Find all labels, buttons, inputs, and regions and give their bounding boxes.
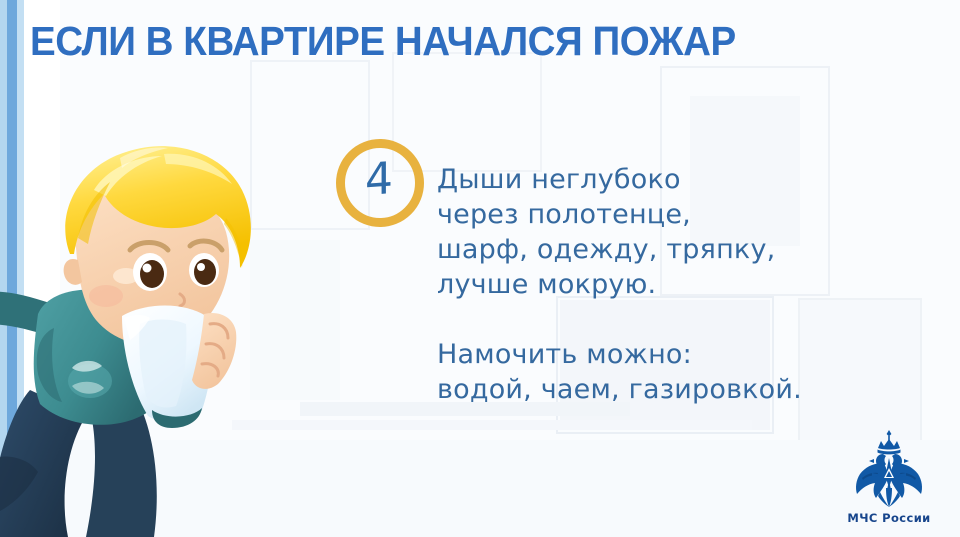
instruction-paragraph-1: Дыши неглубоко через полотенце, шарф, од… [437,162,802,302]
instruction-line: водой, чаем, газировкой. [437,372,802,407]
step-number-badge: 4 [336,139,424,227]
instruction-line: Дыши неглубоко [437,162,802,197]
page-title: ЕСЛИ В КВАРТИРЕ НАЧАЛСЯ ПОЖАР [30,18,736,64]
step-number-text: 4 [365,157,393,203]
instruction-text-block: Дыши неглубоко через полотенце, шарф, од… [437,162,802,407]
slide-canvas: ЕСЛИ В КВАРТИРЕ НАЧАЛСЯ ПОЖАР 4 Дыши нег… [0,0,960,537]
instruction-line: шарф, одежду, тряпку, [437,232,802,267]
mchs-eagle-emblem-icon [850,428,928,510]
instruction-line: Намочить можно: [437,337,802,372]
instruction-line: лучше мокрую. [437,267,802,302]
mchs-russia-logo: МЧС России [832,428,946,525]
mchs-logo-caption: МЧС России [832,511,946,525]
boy-covering-face-with-towel-illustration [0,128,294,537]
instruction-paragraph-2: Намочить можно: водой, чаем, газировкой. [437,337,802,407]
instruction-line: через полотенце, [437,197,802,232]
